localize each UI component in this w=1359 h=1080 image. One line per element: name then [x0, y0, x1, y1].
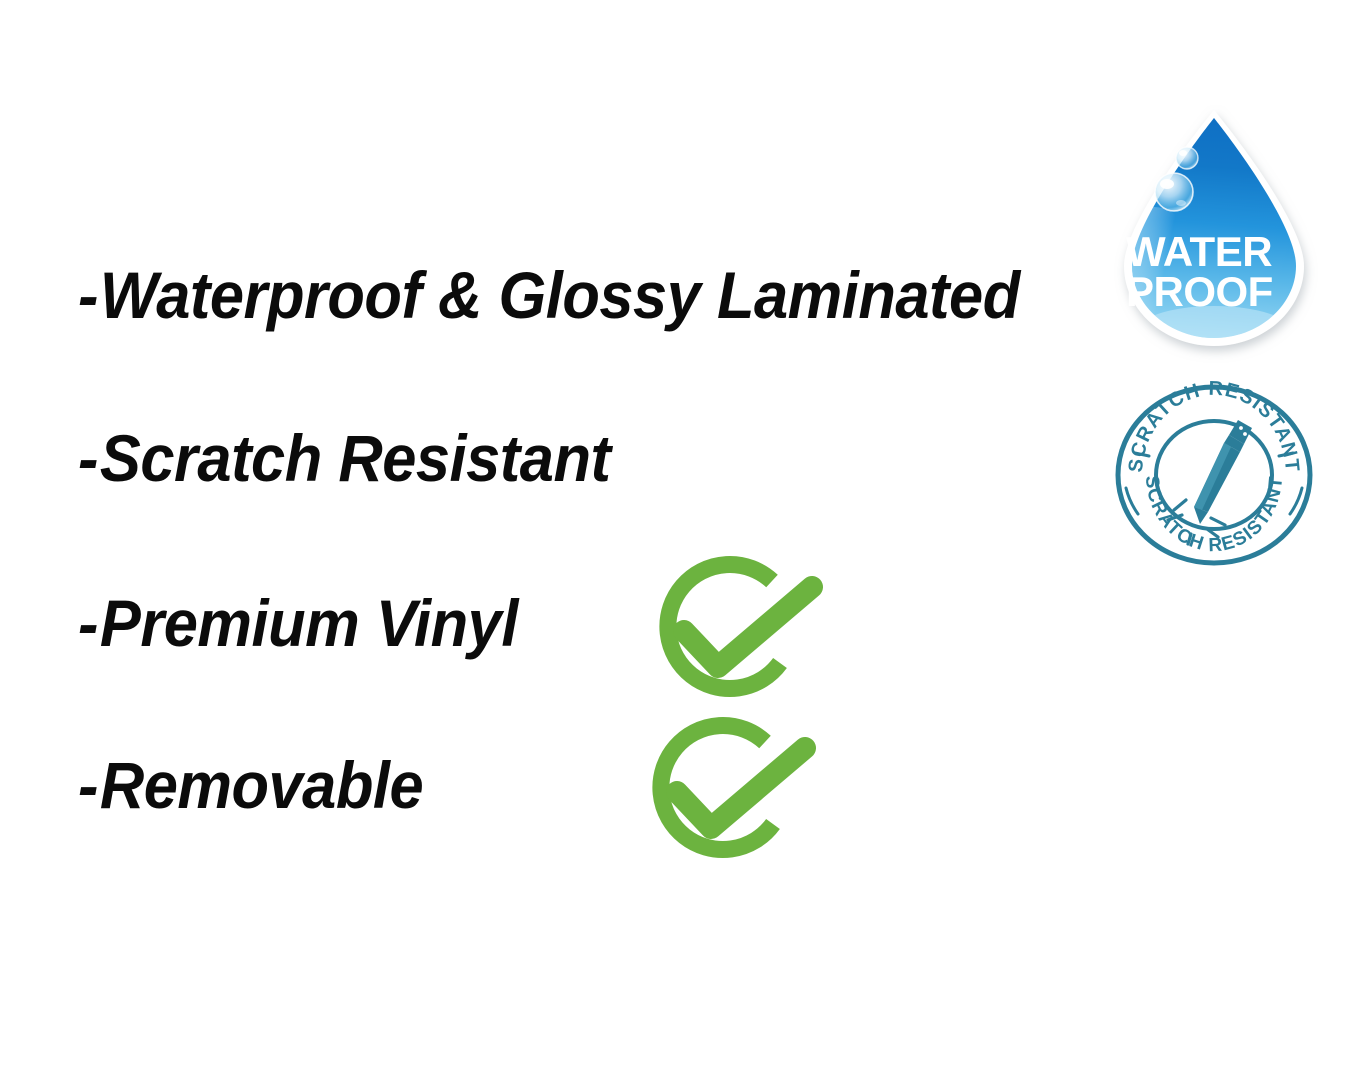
feature-item-removable: -Removable — [78, 752, 423, 818]
feature-label: Premium Vinyl — [100, 586, 518, 660]
feature-label: Removable — [100, 748, 423, 822]
feature-bullet: - — [78, 425, 98, 491]
waterproof-badge: WATER PROOF — [1108, 104, 1320, 366]
feature-list-graphic: -Waterproof & Glossy Laminated -Scratch … — [0, 0, 1359, 1080]
check-circle-removable — [633, 718, 833, 878]
water-bubble-small — [1176, 147, 1198, 169]
feature-bullet: - — [78, 262, 98, 328]
feature-item-premium-vinyl: -Premium Vinyl — [78, 590, 518, 656]
feature-label: Scratch Resistant — [100, 421, 611, 495]
check-circle-premium-vinyl — [640, 557, 840, 717]
check-mark — [677, 748, 805, 828]
check-mark — [684, 587, 812, 667]
water-bubble-large — [1155, 173, 1193, 211]
feature-bullet: - — [78, 752, 98, 818]
scratch-resistant-badge: SCRATCH RESISTANT SCRATCH RESISTANT — [1112, 384, 1316, 566]
waterproof-text-line2: PROOF — [1126, 268, 1273, 315]
badge-text-top: SCRATCH RESISTANT — [1125, 378, 1303, 474]
feature-item-waterproof: -Waterproof & Glossy Laminated — [78, 262, 1020, 328]
feature-label: Waterproof & Glossy Laminated — [100, 258, 1020, 332]
feature-item-scratch-resistant: -Scratch Resistant — [78, 425, 610, 491]
knife-icon — [1194, 420, 1252, 524]
feature-bullet: - — [78, 590, 98, 656]
